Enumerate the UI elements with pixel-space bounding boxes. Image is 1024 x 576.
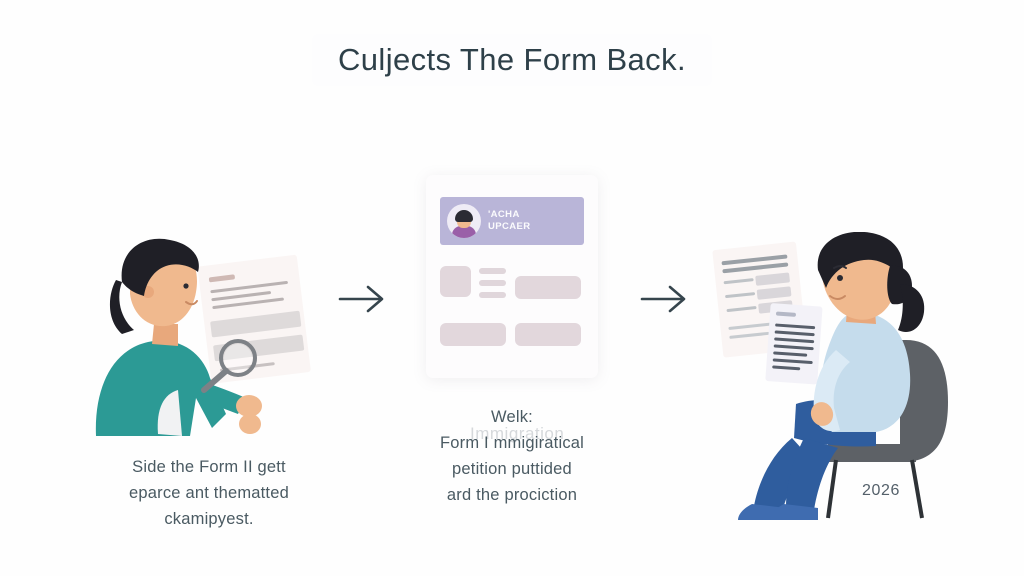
caption-line: eparce ant thematted (64, 480, 354, 506)
card-text-bar (479, 280, 506, 286)
page-title: Culjects The Form Back. (312, 34, 712, 86)
hand-right (239, 414, 261, 434)
hand-left (236, 395, 262, 417)
caption-line: Side the Form II gett (64, 454, 354, 480)
arrow-step-2-to-3-icon (640, 283, 692, 315)
card-header: 'ACHA UPCAER (440, 197, 584, 245)
form-card[interactable]: 'ACHA UPCAER (426, 175, 598, 378)
year-label: 2026 (862, 482, 900, 500)
card-wide-block (440, 323, 506, 346)
caption-line: Welk: (392, 404, 632, 430)
card-thumb-block (440, 266, 471, 297)
chair-leg (828, 460, 836, 518)
card-header-text: 'ACHA UPCAER (488, 209, 531, 233)
document-front (765, 303, 822, 384)
chair-seat (828, 444, 916, 462)
ponytail (898, 284, 924, 332)
page-title-wrap: Culjects The Form Back. (0, 34, 1024, 86)
avatar (447, 204, 481, 238)
card-text-bar (479, 292, 506, 298)
arrow-step-1-to-2-icon (338, 283, 390, 315)
card-wide-block (515, 323, 581, 346)
caption-line: Form I mmigiratical (392, 430, 632, 456)
card-wide-block (515, 276, 581, 299)
illustration-canvas: Culjects The Form Back. (0, 0, 1024, 576)
caption-line: ckamipyest. (64, 506, 354, 532)
caption-step-form: Welk: Form I mmigiratical petition putti… (392, 404, 632, 508)
chair-leg (912, 460, 922, 518)
card-text-bar (479, 268, 506, 274)
card-header-line-2: UPCAER (488, 221, 531, 233)
caption-step-review: Side the Form II gett eparce ant thematt… (64, 454, 354, 532)
illustration-woman-reading (700, 232, 968, 528)
caption-line: petition puttided (392, 456, 632, 482)
caption-line: ard the prociction (392, 482, 632, 508)
card-header-line-1: 'ACHA (488, 209, 531, 221)
illustration-person-reviewing (86, 238, 326, 438)
